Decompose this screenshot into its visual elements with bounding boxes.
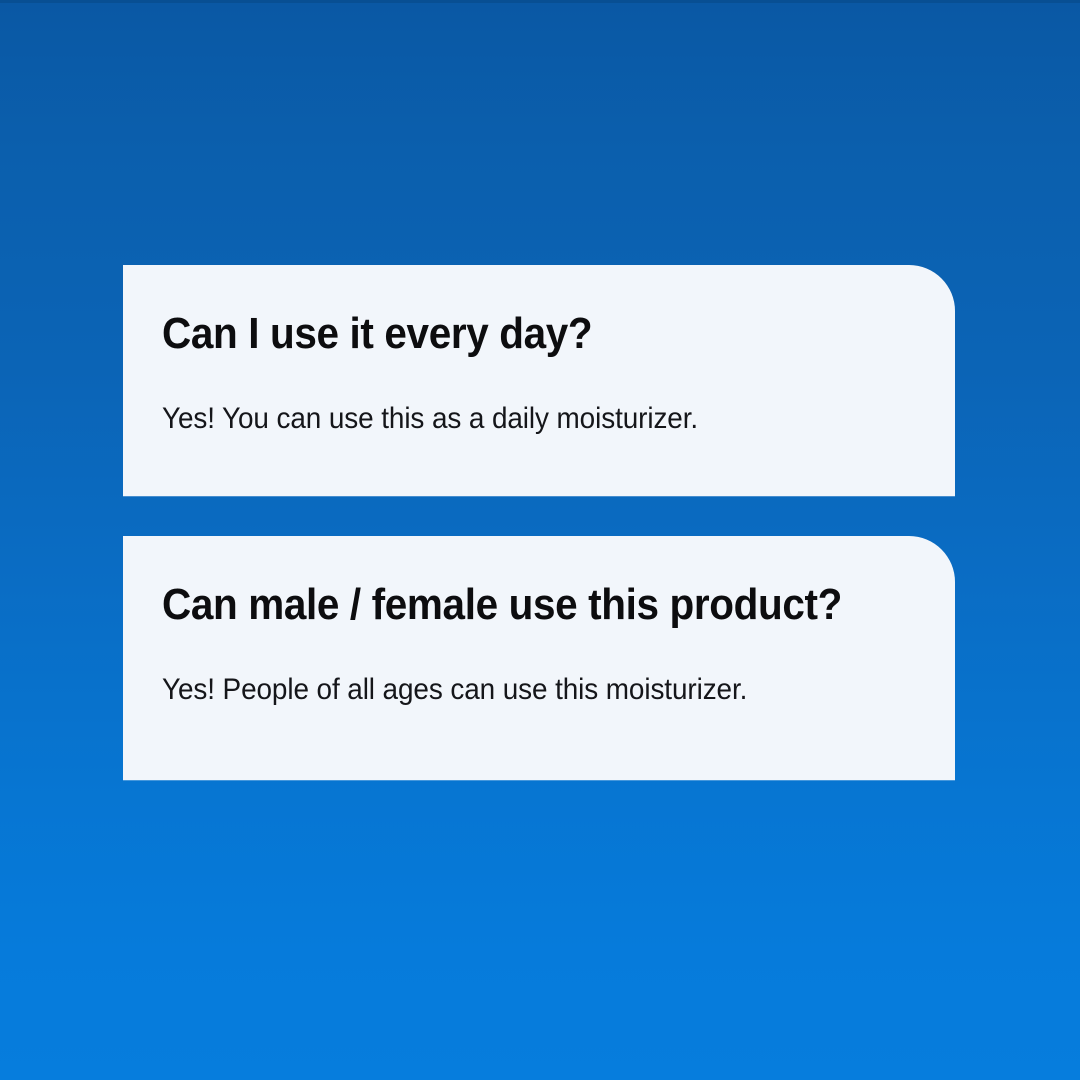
faq-question: Can male / female use this product? — [162, 582, 855, 629]
faq-question: Can I use it every day? — [162, 311, 855, 358]
faq-card[interactable]: Can male / female use this product? Yes!… — [123, 536, 955, 780]
faq-answer: Yes! You can use this as a daily moistur… — [162, 401, 862, 437]
faq-card-list: Can I use it every day? Yes! You can use… — [123, 265, 955, 780]
faq-graphic-canvas: Can I use it every day? Yes! You can use… — [0, 0, 1080, 1080]
faq-answer: Yes! People of all ages can use this moi… — [162, 672, 862, 708]
faq-card[interactable]: Can I use it every day? Yes! You can use… — [123, 265, 955, 496]
top-edge-hairline — [0, 0, 1080, 3]
